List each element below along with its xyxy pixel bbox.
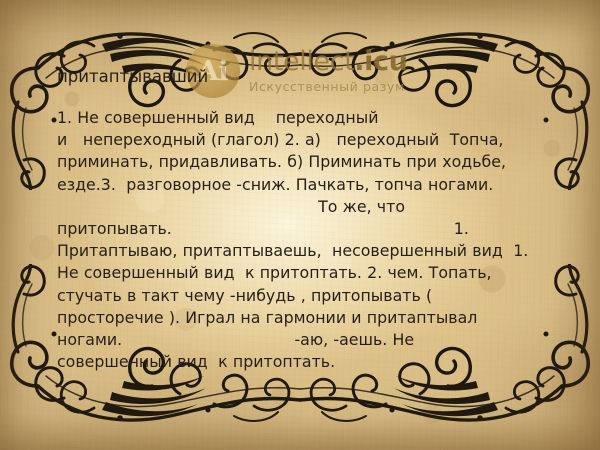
dictionary-entry: притаптывавший 1. Не совершенный вид пер… — [0, 0, 600, 450]
entry-definition-text: 1. Не совершенный вид переходный и непер… — [57, 107, 562, 373]
entry-headword: притаптывавший — [57, 69, 208, 86]
parchment-page: Ai intellect.icu Искусственный разум при… — [0, 0, 600, 450]
